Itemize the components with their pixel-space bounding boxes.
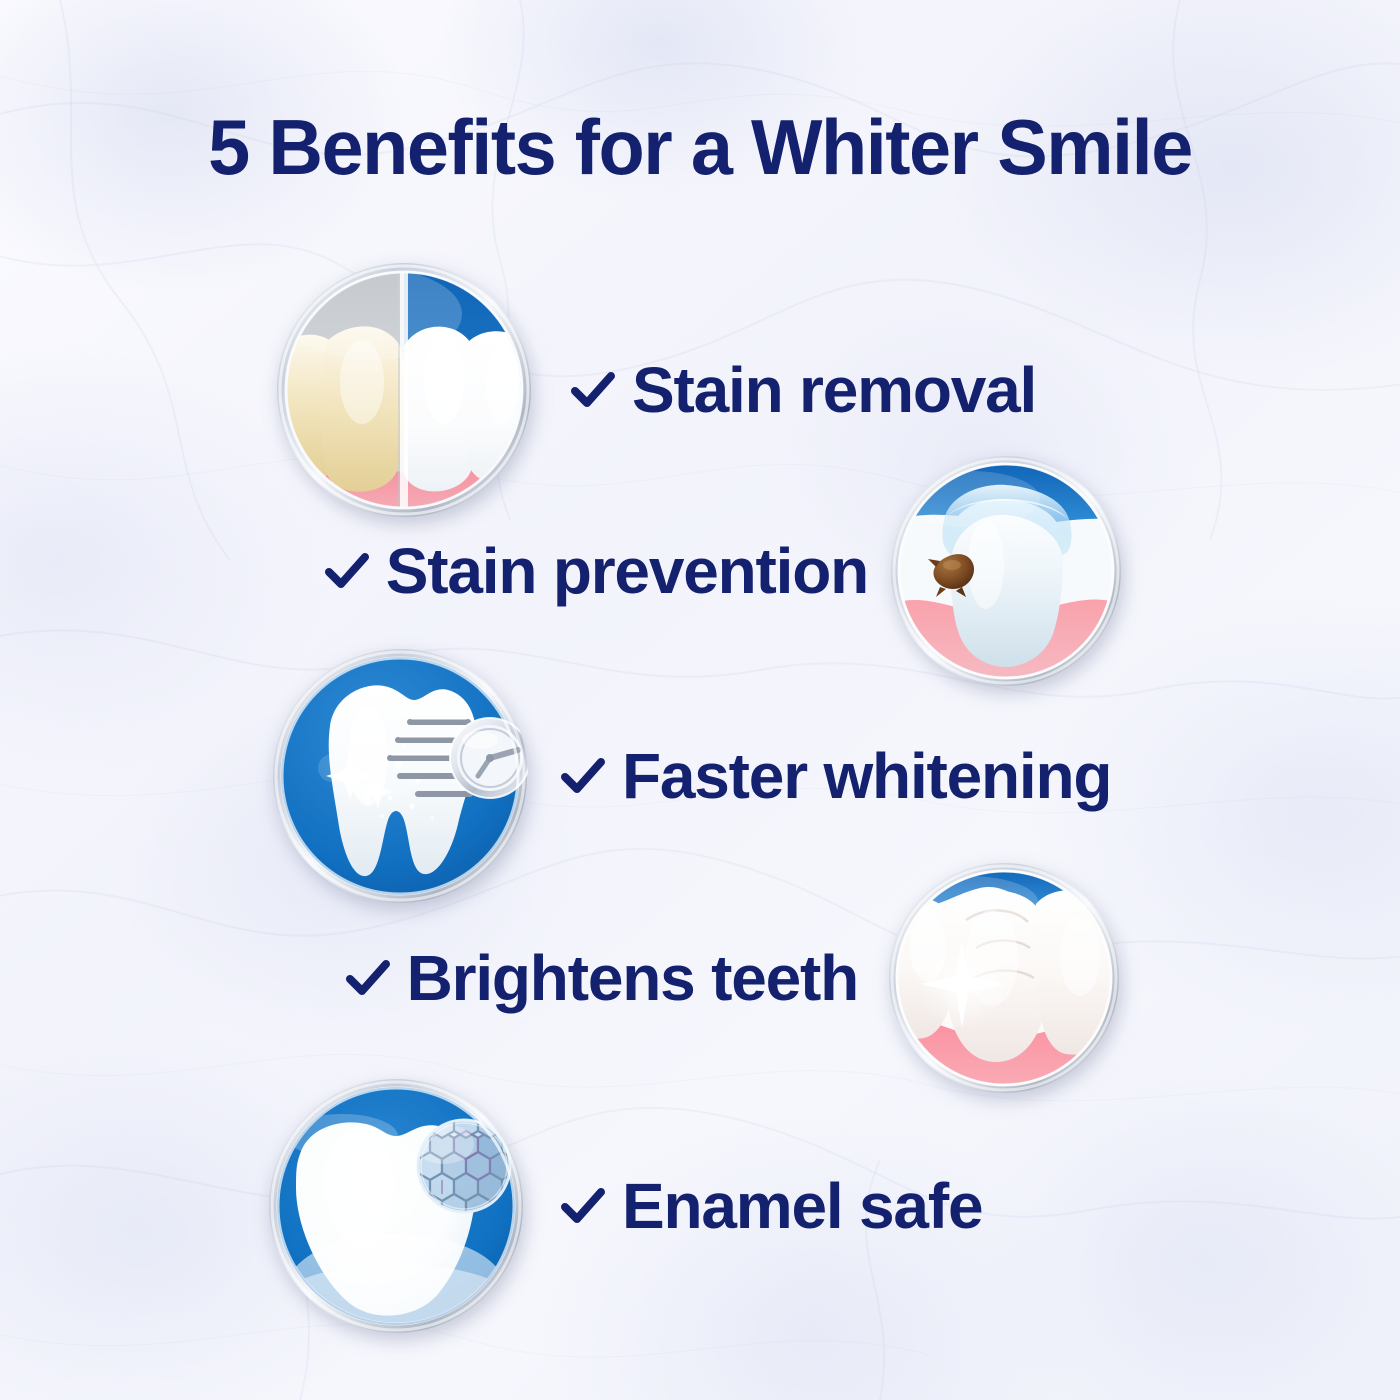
check-icon [345, 955, 391, 1001]
benefit-label-stain-prevention: Stain prevention [324, 539, 868, 603]
benefit-text: Enamel safe [622, 1174, 982, 1238]
benefit-text: Stain prevention [386, 539, 868, 603]
benefit-row-brightens-teeth: Brightens teeth [345, 862, 1120, 1094]
benefit-label-enamel-safe: Enamel safe [560, 1174, 982, 1238]
bright-teeth-sparkle-icon [888, 862, 1120, 1094]
check-icon [570, 367, 616, 413]
benefit-label-brightens-teeth: Brightens teeth [345, 946, 858, 1010]
check-icon [560, 753, 606, 799]
page-title: 5 Benefits for a Whiter Smile [21, 108, 1379, 186]
check-icon [324, 548, 370, 594]
benefit-label-stain-removal: Stain removal [570, 358, 1036, 422]
benefit-text: Faster whitening [622, 744, 1111, 808]
benefit-label-faster-whitening: Faster whitening [560, 744, 1111, 808]
benefit-row-enamel-safe: Enamel safe [268, 1078, 982, 1334]
check-icon [560, 1183, 606, 1229]
benefit-text: Stain removal [632, 358, 1036, 422]
benefit-text: Brightens teeth [407, 946, 858, 1010]
enamel-hexagon-magnifier-icon [268, 1078, 524, 1334]
